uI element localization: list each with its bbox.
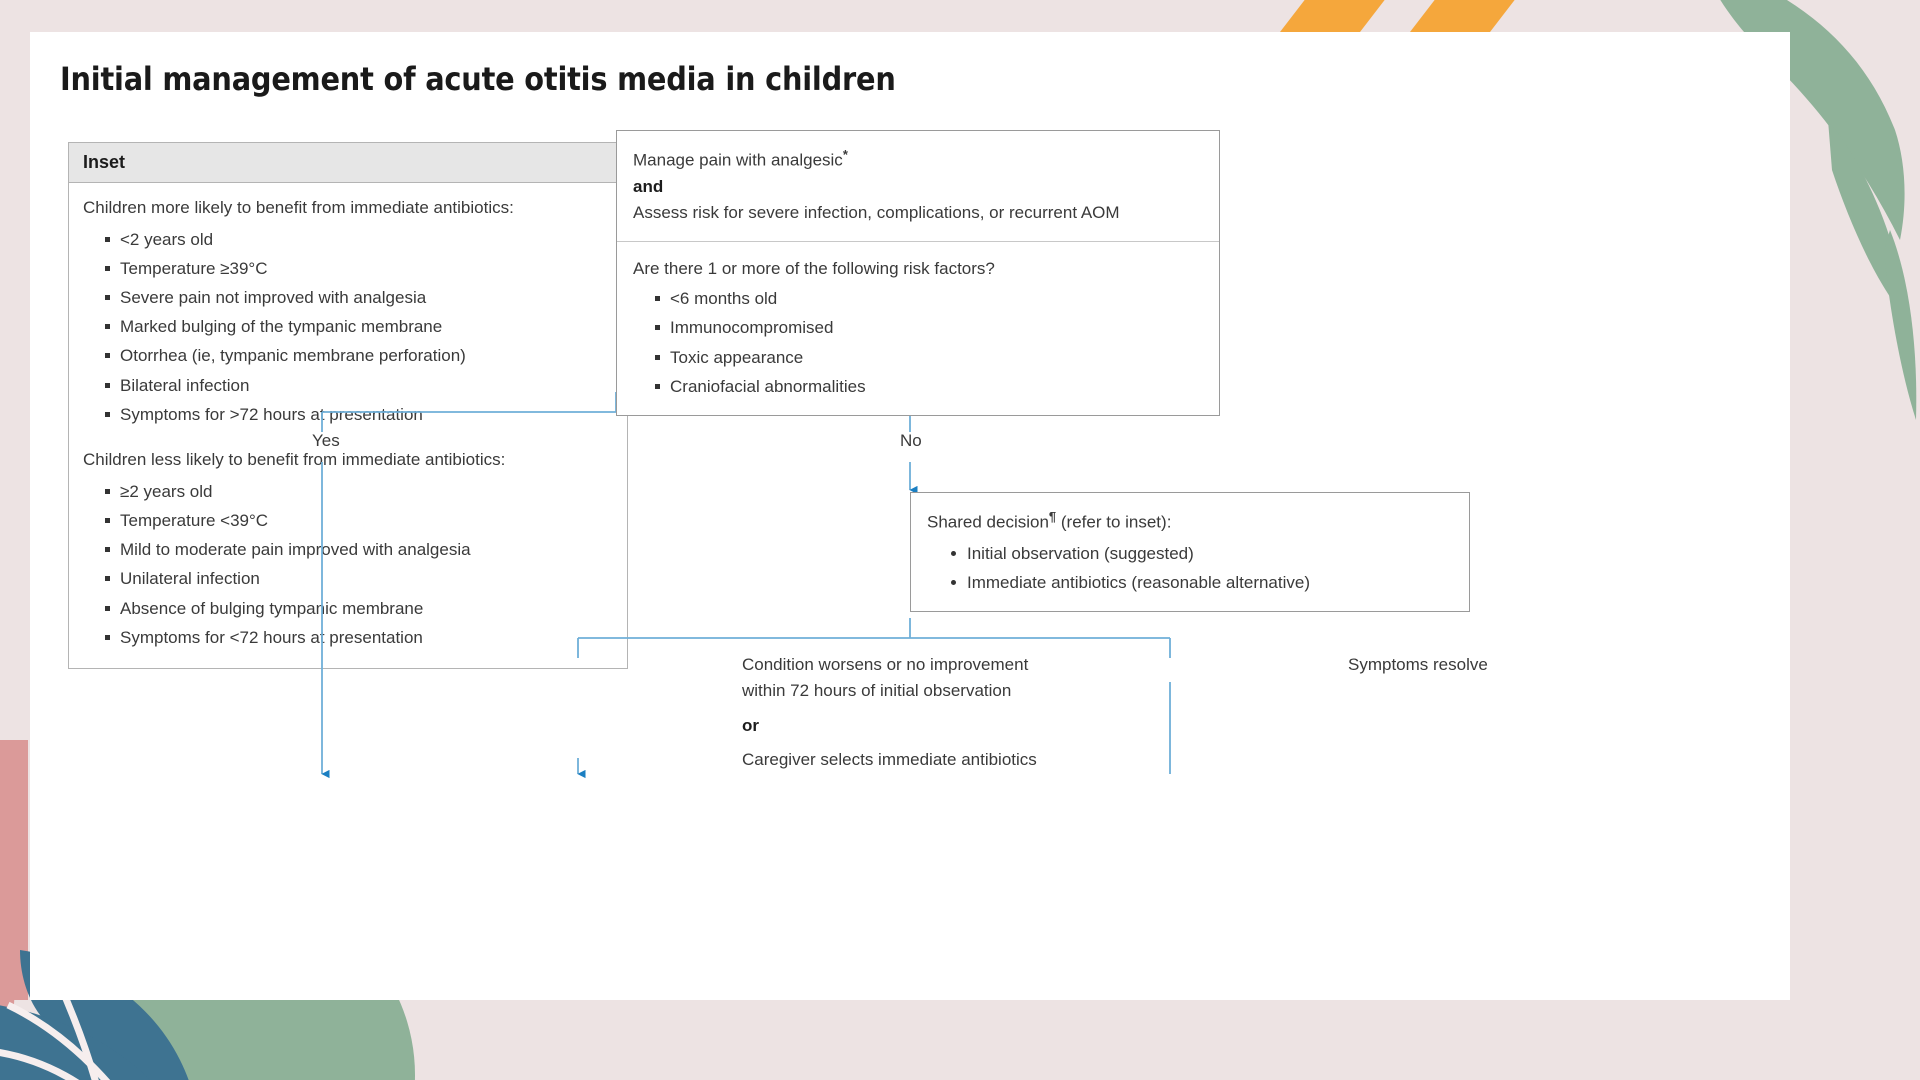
worsen-line-1: Condition worsens or no improvement xyxy=(742,652,1037,678)
list-item: Toxic appearance xyxy=(655,343,1203,372)
branch-label-no: No xyxy=(900,428,922,454)
flow-box-shared-decision: Shared decision¶ (refer to inset): Initi… xyxy=(910,492,1470,612)
manage-pain-line: Manage pain with analgesic* xyxy=(633,145,1203,174)
risk-factor-list: <6 months old Immunocompromised Toxic ap… xyxy=(633,284,1203,401)
list-item: Immunocompromised xyxy=(655,313,1203,342)
shared-decision-options: Initial observation (suggested) Immediat… xyxy=(927,539,1453,597)
shared-decision-lead: Shared decision¶ (refer to inset): xyxy=(927,507,1453,536)
list-item: Immediate antibiotics (reasonable altern… xyxy=(951,568,1453,597)
asterisk-footnote-marker: * xyxy=(843,147,848,162)
risk-factors-section: Are there 1 or more of the following ris… xyxy=(617,241,1219,415)
branch-label-yes: Yes xyxy=(312,428,340,454)
list-item: Initial observation (suggested) xyxy=(951,539,1453,568)
flow-box-start: Manage pain with analgesic* and Assess r… xyxy=(616,130,1220,416)
start-box-section: Manage pain with analgesic* and Assess r… xyxy=(617,131,1219,241)
assess-risk-line: Assess risk for severe infection, compli… xyxy=(633,200,1203,226)
list-item: Craniofacial abnormalities xyxy=(655,372,1203,401)
symptoms-resolve-label: Symptoms resolve xyxy=(1348,652,1488,678)
caregiver-line: Caregiver selects immediate antibiotics xyxy=(742,747,1037,773)
worsen-line-2: within 72 hours of initial observation xyxy=(742,678,1037,704)
shared-decision-section: Shared decision¶ (refer to inset): Initi… xyxy=(911,493,1469,611)
or-connector-label: or xyxy=(742,713,1037,739)
worsen-or-caregiver-label: Condition worsens or no improvement with… xyxy=(742,652,1037,773)
and-connector-label: and xyxy=(633,174,1203,200)
list-item: <6 months old xyxy=(655,284,1203,313)
risk-question: Are there 1 or more of the following ris… xyxy=(633,256,1203,282)
figure-card: Initial management of acute otitis media… xyxy=(30,32,1790,1000)
